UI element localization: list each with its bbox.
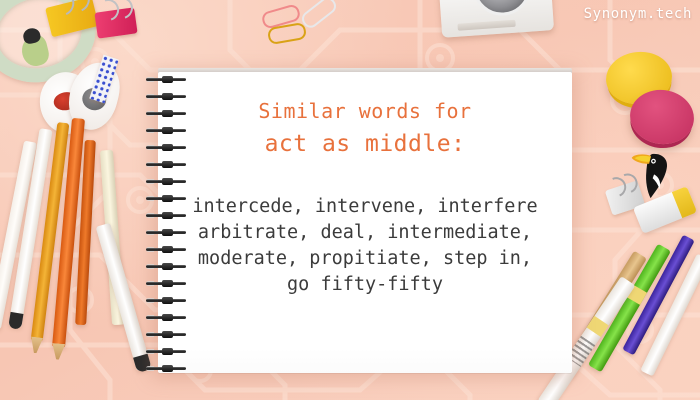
synonym-line: go fifty-fifty [158, 272, 572, 298]
camera-lens [471, 0, 533, 18]
synonym-line: intercede, intervene, interfere [158, 194, 572, 220]
page-title-line1: Similar words for [258, 98, 471, 124]
synonym-line: moderate, propitiate, step in, [158, 246, 572, 272]
synonym-line: arbitrate, deal, intermediate, [158, 220, 572, 246]
binder-clip-pink [94, 7, 137, 38]
brand-logo: Synonym.tech [584, 6, 692, 22]
camera-grip [457, 20, 515, 31]
synonym-page-screenshot: Similar words for act as middle: interce… [0, 0, 700, 400]
page-title-line2: act as middle: [265, 130, 466, 158]
page-content: Similar words for act as middle: interce… [158, 72, 572, 373]
synonym-list: intercede, intervene, interferearbitrate… [158, 194, 572, 298]
